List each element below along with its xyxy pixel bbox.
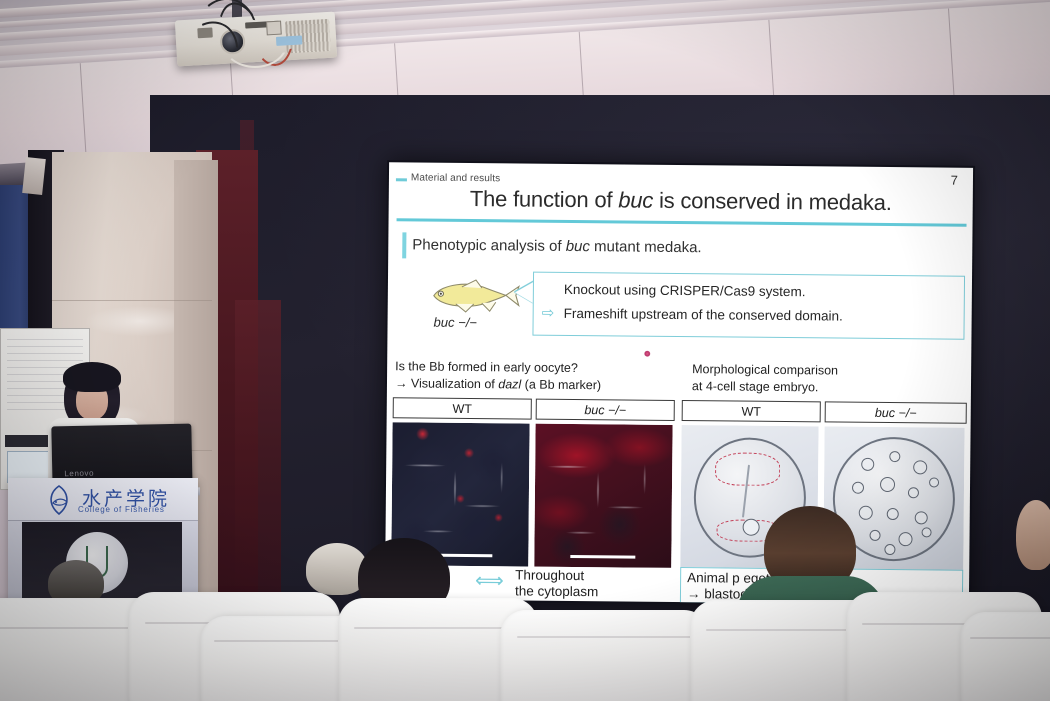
audience-head [1016,500,1050,570]
venue-sign: 水产学院 College of Fisheries [8,478,198,521]
conference-room-photo: Material and results 7 The function of b… [0,0,1050,701]
laser-pointer-dot [644,351,650,357]
conclusion-left-line2: the cytoplasm [515,583,665,600]
laptop-brand-label: Lenovo [64,469,94,479]
cell-boundary-overlay [534,424,672,568]
lq-part2: (a Bb marker) [521,377,601,392]
slide-title-part1: The function of [470,186,619,212]
panel-header-wt-embryo: WT [682,400,821,422]
double-headed-arrow-icon: ⟺ [475,571,504,591]
audience-chair [960,612,1050,701]
panel-header-label: buc −/− [584,403,626,417]
panel-header-label: WT [741,404,761,418]
scale-bar [570,555,636,559]
fish-emblem-icon [44,484,74,516]
panel-header-label: buc −/− [875,405,917,419]
right-question-line2: at 4-cell stage embryo. [692,378,962,397]
left-question-line1: Is the Bb formed in early oocyte? [395,358,680,377]
audience-chair [500,610,710,701]
conclusion-left-text: Throughout the cytoplasm [515,567,665,599]
slide-title: The function of buc is conserved in meda… [389,185,973,217]
slide-subhead: Phenotypic analysis of buc mutant medaka… [412,236,701,256]
left-question-line2: → Visualization of dazl (a Bb marker) [395,375,680,394]
medaka-fish-icon [426,275,522,316]
conclusion-left-line1: Throughout [515,567,665,584]
crispr-line-1: Knockout using CRISPER/Cas9 system. [564,282,806,299]
subhead-bar-icon [402,232,406,258]
title-rule [397,218,967,226]
slide-title-part2: is conserved in medaka. [653,188,892,215]
venue-sign-english: College of Fisheries [78,505,165,514]
right-question-line1: Morphological comparison [692,361,962,380]
speaker-fringe [63,362,121,392]
panel-header-wt-oocyte: WT [393,397,532,419]
subhead-gene: buc [566,238,590,255]
right-question-caption: Morphological comparison at 4-cell stage… [692,361,962,397]
maroon-wall-panel [235,300,281,600]
panel-header-label: WT [452,401,472,415]
block-arrow-icon: ⇨ [542,306,555,321]
fish-genotype-label: buc −/− [434,315,478,330]
panel-header-mutant-oocyte: buc −/− [536,399,675,421]
lq-gene: dazl [498,377,521,391]
presentation-slide: Material and results 7 The function of b… [385,162,973,605]
lq-part1: → Visualization of [395,376,498,391]
crispr-callout-box: Knockout using CRISPER/Cas9 system. ⇨ Fr… [532,272,965,340]
panel-header-mutant-embryo: buc −/− [825,401,967,423]
slide-page-number: 7 [951,173,958,188]
oil-droplet [743,518,760,535]
slide-kicker: Material and results [411,172,500,184]
slide-title-gene: buc [618,187,653,212]
wall-speaker-box [22,157,46,195]
micrograph-mutant-oocyte [534,424,672,568]
projection-screen: Material and results 7 The function of b… [383,160,975,607]
subhead-part1: Phenotypic analysis of [412,236,566,254]
crispr-line-2: Frameshift upstream of the conserved dom… [564,306,843,324]
left-question-caption: Is the Bb formed in early oocyte? → Visu… [395,358,680,394]
subhead-part2: mutant medaka. [590,238,702,256]
callout-notch-icon [515,281,534,303]
kicker-dash-icon [396,178,407,181]
